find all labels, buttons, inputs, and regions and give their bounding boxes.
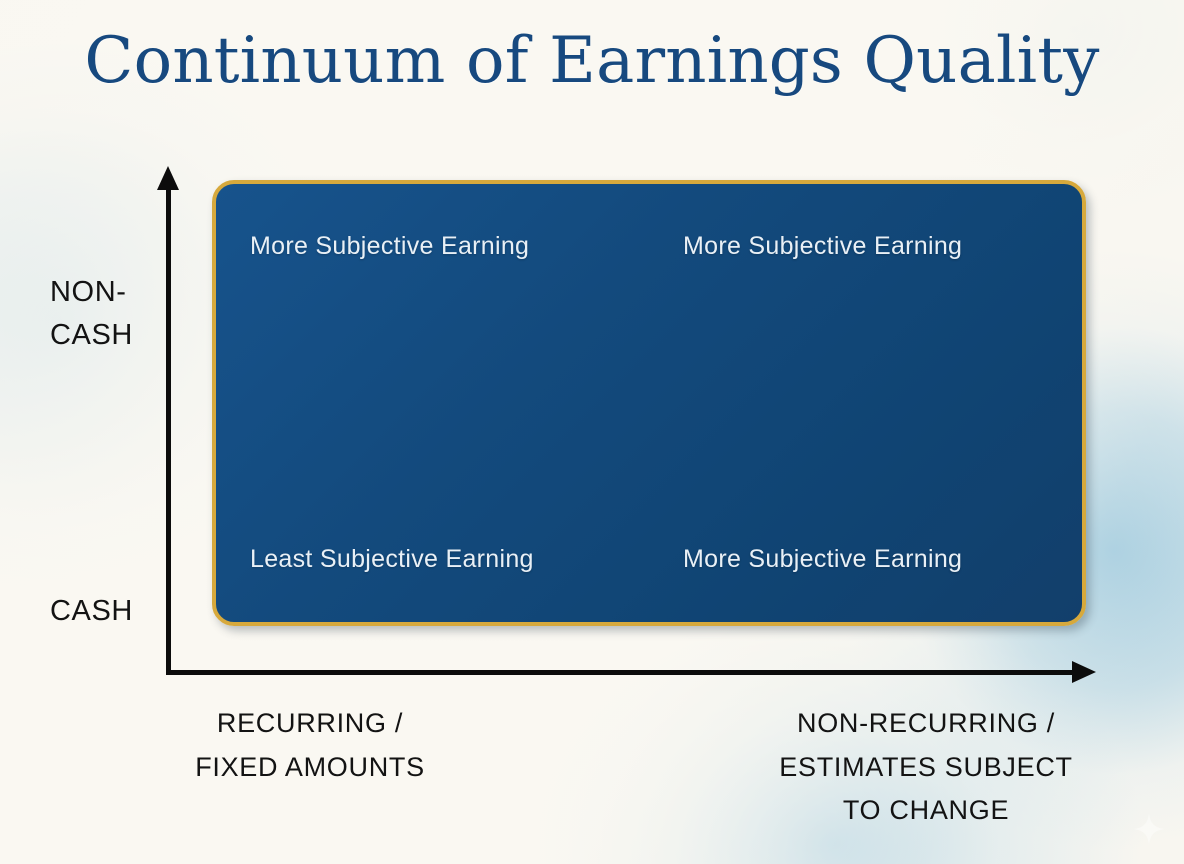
quadrant-top-right-label: More Subjective Earning — [683, 232, 962, 260]
x-axis-label-non-recurring-line-1: NON-RECURRING / — [742, 702, 1110, 746]
x-axis-label-non-recurring-line-3: TO CHANGE — [742, 789, 1110, 833]
right-arrow-icon — [1072, 661, 1096, 683]
x-axis-label-non-recurring-line-2: ESTIMATES SUBJECT — [742, 746, 1110, 790]
y-axis-label-cash: CASH — [50, 590, 160, 633]
quadrant-top-right: More Subjective Earning — [649, 184, 1082, 403]
y-axis-label-non-cash: NON- CASH — [50, 271, 160, 357]
earnings-quality-matrix: More Subjective Earning More Subjective … — [212, 180, 1086, 626]
quadrant-top-left: More Subjective Earning — [216, 184, 649, 403]
x-axis-label-recurring-line-2: FIXED AMOUNTS — [130, 746, 490, 790]
x-axis-label-non-recurring: NON-RECURRING / ESTIMATES SUBJECT TO CHA… — [742, 702, 1110, 833]
x-axis-label-recurring-line-1: RECURRING / — [130, 702, 490, 746]
quadrant-bottom-left: Least Subjective Earning — [216, 403, 649, 622]
vertical-axis-line — [166, 186, 171, 675]
matrix-quadrant-grid: More Subjective Earning More Subjective … — [216, 184, 1082, 622]
quadrant-top-left-label: More Subjective Earning — [250, 232, 529, 260]
sparkle-icon — [1132, 812, 1166, 846]
page-title: Continuum of Earnings Quality — [0, 28, 1184, 95]
up-arrow-icon — [157, 166, 179, 190]
y-axis-label-non-cash-line-1: NON- — [50, 271, 160, 314]
y-axis-label-cash-line-1: CASH — [50, 590, 160, 633]
quadrant-bottom-left-label: Least Subjective Earning — [250, 545, 534, 574]
y-axis-label-non-cash-line-2: CASH — [50, 314, 160, 357]
horizontal-axis-line — [166, 670, 1080, 675]
quadrant-bottom-right: More Subjective Earning — [649, 403, 1082, 622]
x-axis-label-recurring: RECURRING / FIXED AMOUNTS — [130, 702, 490, 789]
slide-canvas: Continuum of Earnings Quality NON- CASH … — [0, 0, 1184, 864]
quadrant-bottom-right-label: More Subjective Earning — [683, 545, 962, 574]
